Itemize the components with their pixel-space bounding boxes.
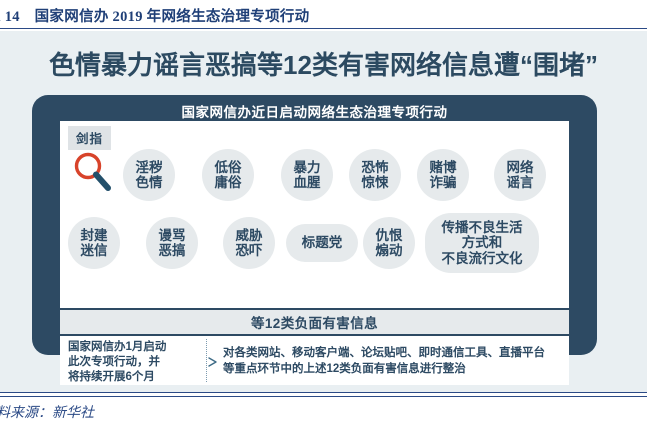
category-bubble[interactable]: 传播不良生活 方式和 不良流行文化 xyxy=(425,213,539,273)
notes-strip: 国家网信办1月启动 此次专项行动，并 将持续开展6个月 对各类网站、移动客户端、… xyxy=(60,336,569,385)
table-caption: 表 14 国家网信办 2019 年网络生态治理专项行动 xyxy=(0,6,626,28)
category-bubble[interactable]: 赌博 诈骗 xyxy=(417,149,469,201)
arrow-right-icon xyxy=(208,355,220,367)
category-bubble[interactable]: 网络 谣言 xyxy=(494,149,546,201)
summary-band: 等12类负面有害信息 xyxy=(60,310,569,334)
category-bubble[interactable]: 威胁 恐吓 xyxy=(223,217,275,269)
notes-dotted-divider xyxy=(206,339,207,382)
footer-divider-top xyxy=(0,392,647,393)
category-bubble[interactable]: 仇恨 煽动 xyxy=(363,217,415,269)
source-note: 资料来源：新华社 xyxy=(0,402,382,422)
category-bubble[interactable]: 恐怖 惊悚 xyxy=(349,149,401,201)
category-bubble[interactable]: 淫秽 色情 xyxy=(123,149,175,201)
note-right-text: 对各类网站、移动客户端、论坛贴吧、即时通信工具、直播平台 等重点环节中的上述12… xyxy=(223,346,559,378)
note-left-text: 国家网信办1月启动 此次专项行动，并 将持续开展6个月 xyxy=(68,340,198,386)
category-bubble[interactable]: 谩骂 恶搞 xyxy=(146,217,198,269)
harmful-category-row-1: 淫秽 色情 低俗 庸俗 暴力 血腥 恐怖 惊悚 赌博 诈骗 网络 谣言 xyxy=(60,147,569,209)
footer-divider-bottom xyxy=(0,396,647,397)
category-bubble[interactable]: 低俗 庸俗 xyxy=(202,149,254,201)
category-bubble[interactable]: 封建 迷信 xyxy=(68,217,120,269)
targets-panel: 剑指 淫秽 色情 低俗 庸俗 暴力 血腥 恐怖 惊悚 赌博 诈骗 网络 谣言 封… xyxy=(60,121,569,308)
harmful-category-row-2: 封建 迷信 谩骂 恶搞 威胁 恐吓 标题党 仇恨 煽动 传播不良生活 方式和 不… xyxy=(60,213,569,281)
category-bubble[interactable]: 标题党 xyxy=(286,224,358,262)
card-header-title: 国家网信办近日启动网络生态治理专项行动 xyxy=(32,101,597,121)
figure-title: 色情暴力谣言恶搞等12类有害网络信息遭“围堵” xyxy=(0,45,647,82)
infographic-card: 国家网信办近日启动网络生态治理专项行动 剑指 淫秽 色情 低俗 庸俗 暴力 血腥… xyxy=(32,95,597,355)
category-bubble[interactable]: 暴力 血腥 xyxy=(281,149,333,201)
caption-divider xyxy=(0,28,647,29)
infographic-figure: 色情暴力谣言恶搞等12类有害网络信息遭“围堵” 国家网信办近日启动网络生态治理专… xyxy=(0,31,647,392)
